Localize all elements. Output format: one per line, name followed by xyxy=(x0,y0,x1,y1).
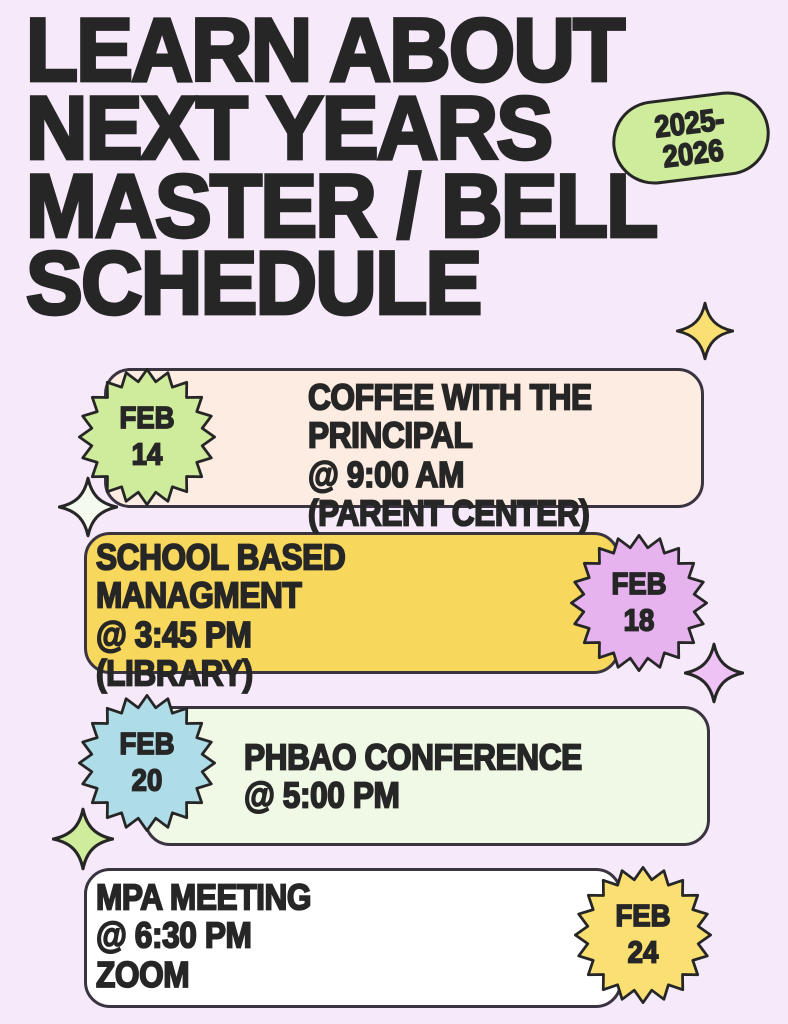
date-badge: FEB 14 xyxy=(78,368,216,506)
starburst-icon xyxy=(574,866,712,1004)
date-badge: FEB 20 xyxy=(78,694,216,832)
starburst-icon xyxy=(78,694,216,832)
event-details: SCHOOL BASED MANAGMENT @ 3:45 PM (LIBRAR… xyxy=(96,538,345,693)
event-details: COFFEE WITH THE PRINCIPAL @ 9:00 AM (PAR… xyxy=(308,378,592,533)
starburst-icon xyxy=(570,534,708,672)
starburst-icon xyxy=(78,368,216,506)
sparkle-icon xyxy=(676,300,734,362)
event-details: MPA MEETING @ 6:30 PM ZOOM xyxy=(96,878,311,994)
school-year-label: 2025- 2026 xyxy=(653,103,730,172)
event-details: PHBAO CONFERENCE @ 5:00 PM xyxy=(244,738,582,816)
date-badge: FEB 24 xyxy=(574,866,712,1004)
headline-line-4: SCHEDULE xyxy=(26,243,788,325)
flyer-canvas: LEARN ABOUT NEXT YEARS MASTER / BELL SCH… xyxy=(0,0,788,1024)
date-badge: FEB 18 xyxy=(570,534,708,672)
